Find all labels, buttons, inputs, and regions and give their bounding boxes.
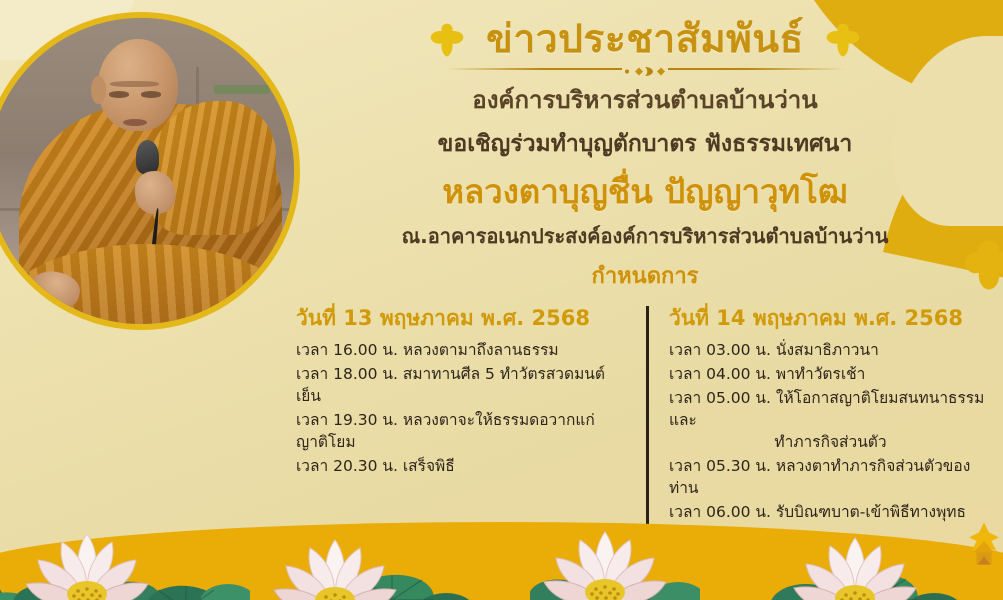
schedule-item-text: เวลา 06.00 น. รับบิณฑบาต-เข้าพิธีทางพุทธ… — [669, 503, 966, 543]
divider-ornament — [445, 63, 845, 76]
schedule-item: เวลา 20.30 น. เสร็จพิธี — [296, 455, 626, 477]
venue-line: ณ.อาคารอเนกประสงค์องค์การบริหารส่วนตำบลบ… — [300, 223, 990, 249]
monk-portrait — [0, 12, 300, 330]
lotus-flower-icon — [12, 516, 162, 600]
page-title: ข่าวประชาสัมพันธ์ — [486, 18, 804, 62]
schedule-item: เวลา 06.00 น. รับบิณฑบาต-เข้าพิธีทางพุทธ… — [669, 501, 996, 589]
schedule-column-day1: วันที่ 13 พฤษภาคม พ.ศ. 2568 เวลา 16.00 น… — [296, 306, 646, 591]
microphone-head-icon — [136, 140, 159, 174]
announcement-poster: ข่าวประชาสัมพันธ์ องค์การบริหารส่วนตำบลบ… — [0, 0, 1003, 600]
monk-portrait-image — [0, 18, 294, 324]
schedule-item: เวลา 18.00 น. สมาทานศีล 5 ทำวัตรสวดมนต์เ… — [296, 363, 626, 407]
schedule-item-text: เวลา 04.00 น. พาทำวัตรเช้า — [669, 365, 865, 383]
day-title: วันที่ 13 พฤษภาคม พ.ศ. 2568 — [296, 306, 626, 331]
schedule-item-text: เวลา 05.30 น. หลวงตาทำภารกิจส่วนตัวของท่… — [669, 457, 970, 497]
schedule-item-continuation: อาหาร อนุโมทนาบุญให้พร — [669, 567, 996, 589]
schedule-section: วันที่ 13 พฤษภาคม พ.ศ. 2568 เวลา 16.00 น… — [296, 306, 996, 591]
organization-name: องค์การบริหารส่วนตำบลบ้านว่าน — [300, 85, 990, 116]
lotus-leaf-cluster — [90, 554, 250, 600]
diamond-divider-icon — [622, 63, 668, 76]
day-title: วันที่ 14 พฤษภาคม พ.ศ. 2568 — [669, 306, 996, 331]
clover-ornament-left-icon — [430, 23, 464, 57]
monk-name: หลวงตาบุญชื่น ปัญญาวุทโฒ — [300, 171, 990, 212]
invitation-line: ขอเชิญร่วมทำบุญตักบาตร ฟังธรรมเทศนา — [300, 130, 990, 160]
schedule-item: เวลา 19.30 น. หลวงตาจะให้ธรรมดอวากแก่ญาต… — [296, 409, 626, 453]
schedule-item-text: เวลา 19.30 น. หลวงตาจะให้ธรรมดอวากแก่ญาต… — [296, 411, 595, 451]
divider-bar-left — [445, 68, 622, 70]
wall-green-accent — [214, 85, 269, 94]
clover-ornament-right-icon — [826, 23, 860, 57]
headline-row: ข่าวประชาสัมพันธ์ — [300, 18, 990, 62]
schedule-item-continuation: ไหว้พระรับศีลถวายทาน พิจารณา — [669, 545, 996, 567]
monk-eye-right — [141, 91, 161, 97]
schedule-item: เวลา 04.00 น. พาทำวัตรเช้า — [669, 363, 996, 385]
schedule-item-text: เวลา 20.30 น. เสร็จพิธี — [296, 457, 455, 475]
schedule-column-day2: วันที่ 14 พฤษภาคม พ.ศ. 2568 เวลา 03.00 น… — [646, 306, 996, 591]
header-block: ข่าวประชาสัมพันธ์ องค์การบริหารส่วนตำบลบ… — [300, 18, 990, 293]
schedule-item-text: เวลา 03.00 น. นั่งสมาธิภาวนา — [669, 341, 879, 359]
divider-bar-right — [668, 68, 845, 70]
monk-eye-left — [109, 91, 129, 97]
schedule-item-text: เวลา 16.00 น. หลวงตามาถึงลานธรรม — [296, 341, 559, 359]
schedule-item: เวลา 05.00 น. ให้โอกาสญาติโยมสนทนาธรรมแล… — [669, 387, 996, 453]
schedule-heading: กำหนดการ — [300, 258, 990, 293]
schedule-item: เวลา 05.30 น. หลวงตาทำภารกิจส่วนตัวของท่… — [669, 455, 996, 499]
lotus-leaf-cluster — [0, 554, 80, 600]
schedule-item-text: เวลา 18.00 น. สมาทานศีล 5 ทำวัตรสวดมนต์เ… — [296, 365, 605, 405]
monk-ear — [91, 76, 106, 104]
schedule-item: เวลา 16.00 น. หลวงตามาถึงลานธรรม — [296, 339, 626, 361]
schedule-item-text: เวลา 05.00 น. ให้โอกาสญาติโยมสนทนาธรรมแล… — [669, 389, 984, 429]
schedule-item: เวลา 03.00 น. นั่งสมาธิภาวนา — [669, 339, 996, 361]
schedule-item-continuation: ทำภารกิจส่วนตัว — [669, 431, 996, 453]
